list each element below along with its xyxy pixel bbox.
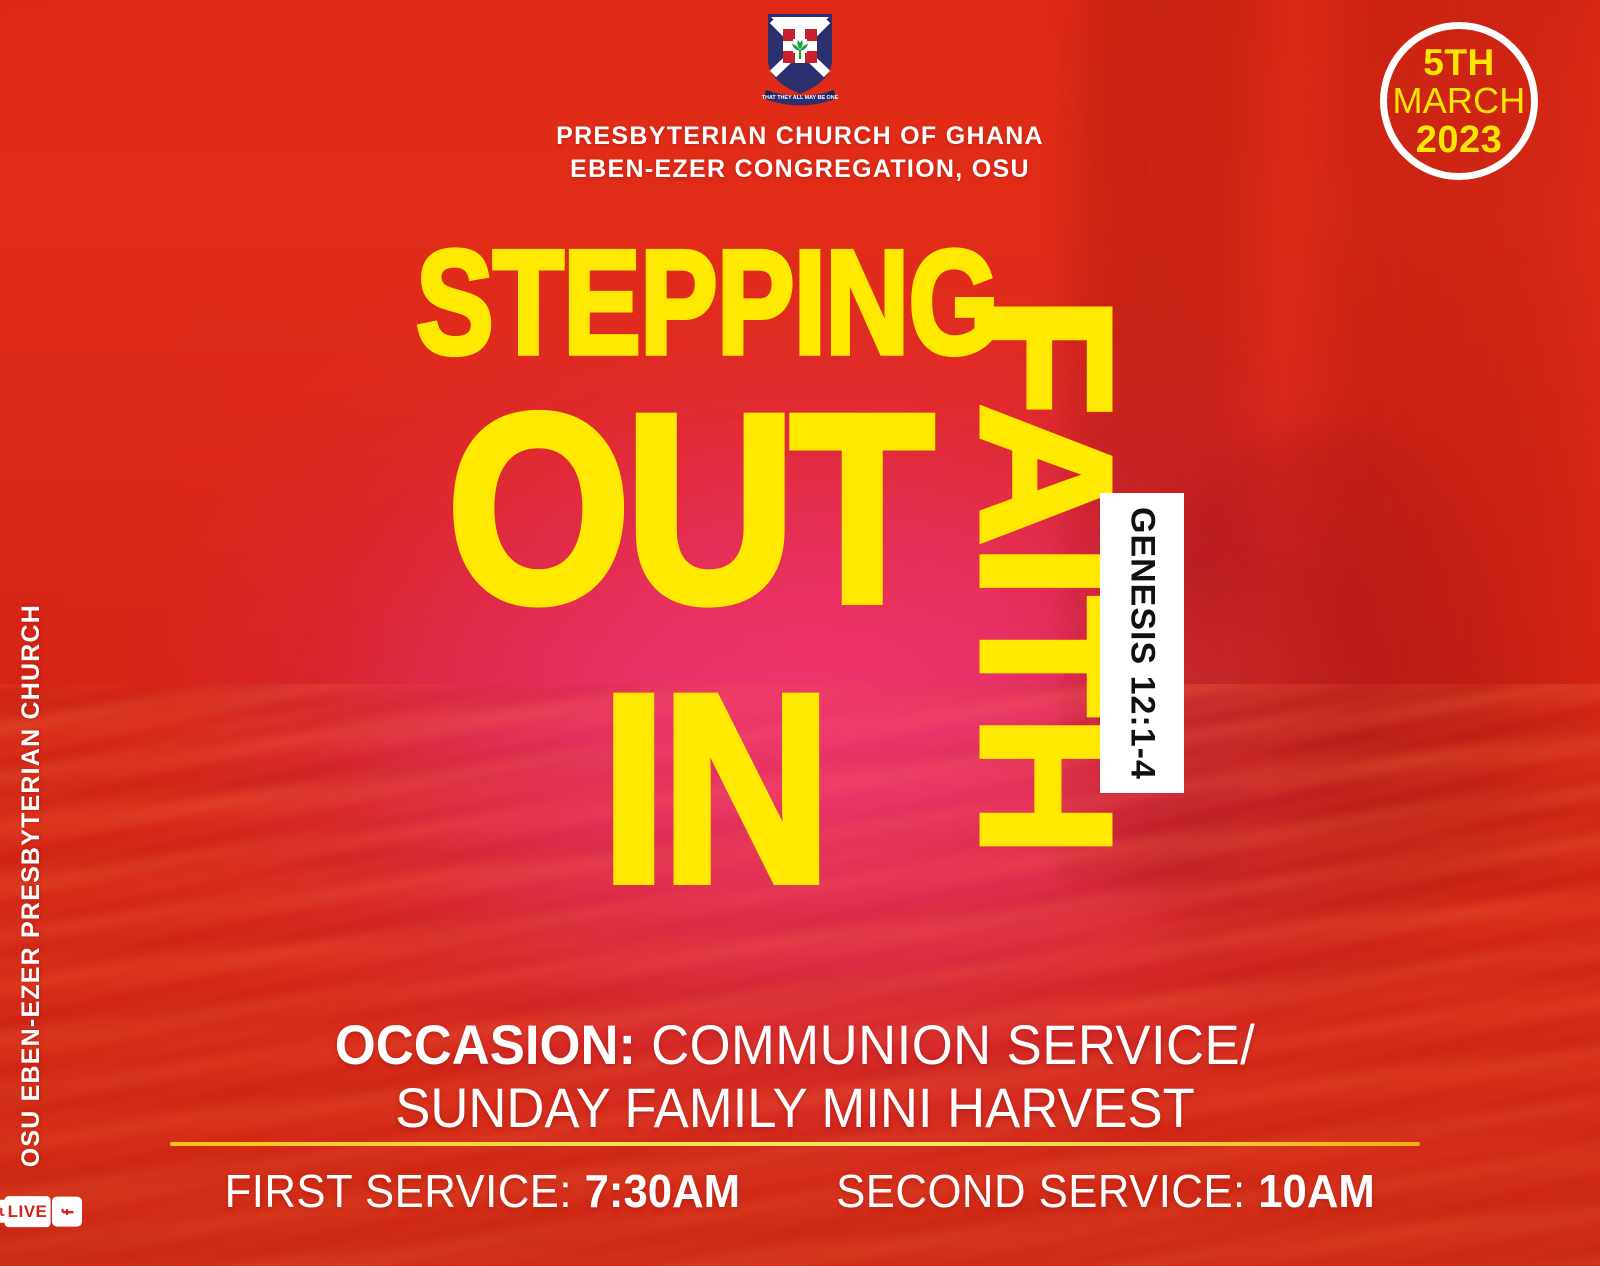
occasion-value-part1: COMMUNION SERVICE/ <box>636 1013 1255 1076</box>
church-event-flyer: OSU EBEN-EZER PRESBYTERIAN CHURCH You Tu… <box>0 0 1600 1266</box>
occasion-label: OCCASION: <box>335 1013 636 1076</box>
first-service: FIRST SERVICE: 7:30AM <box>225 1168 740 1214</box>
occasion-line-2: SUNDAY FAMILY MINI HARVEST <box>189 1077 1402 1140</box>
first-service-time: 7:30AM <box>585 1165 740 1217</box>
second-service: SECOND SERVICE: 10AM <box>836 1168 1375 1214</box>
scripture-reference-box: GENESIS 12:1-4 <box>1100 493 1184 793</box>
scripture-reference: GENESIS 12:1-4 <box>1123 507 1162 780</box>
second-service-label: SECOND SERVICE: <box>836 1165 1258 1217</box>
hero-word-out: OUT <box>447 404 929 613</box>
occasion-block: OCCASION: COMMUNION SERVICE/ SUNDAY FAMI… <box>150 1014 1440 1139</box>
occasion-line-1: OCCASION: COMMUNION SERVICE/ <box>189 1014 1402 1077</box>
service-times: FIRST SERVICE: 7:30AM SECOND SERVICE: 10… <box>150 1168 1450 1214</box>
hero-word-in: IN <box>601 684 826 893</box>
second-service-time: 10AM <box>1258 1165 1375 1217</box>
first-service-label: FIRST SERVICE: <box>225 1165 585 1217</box>
hero-word-stepping: STEPPING <box>416 246 998 361</box>
gold-divider <box>170 1142 1420 1146</box>
